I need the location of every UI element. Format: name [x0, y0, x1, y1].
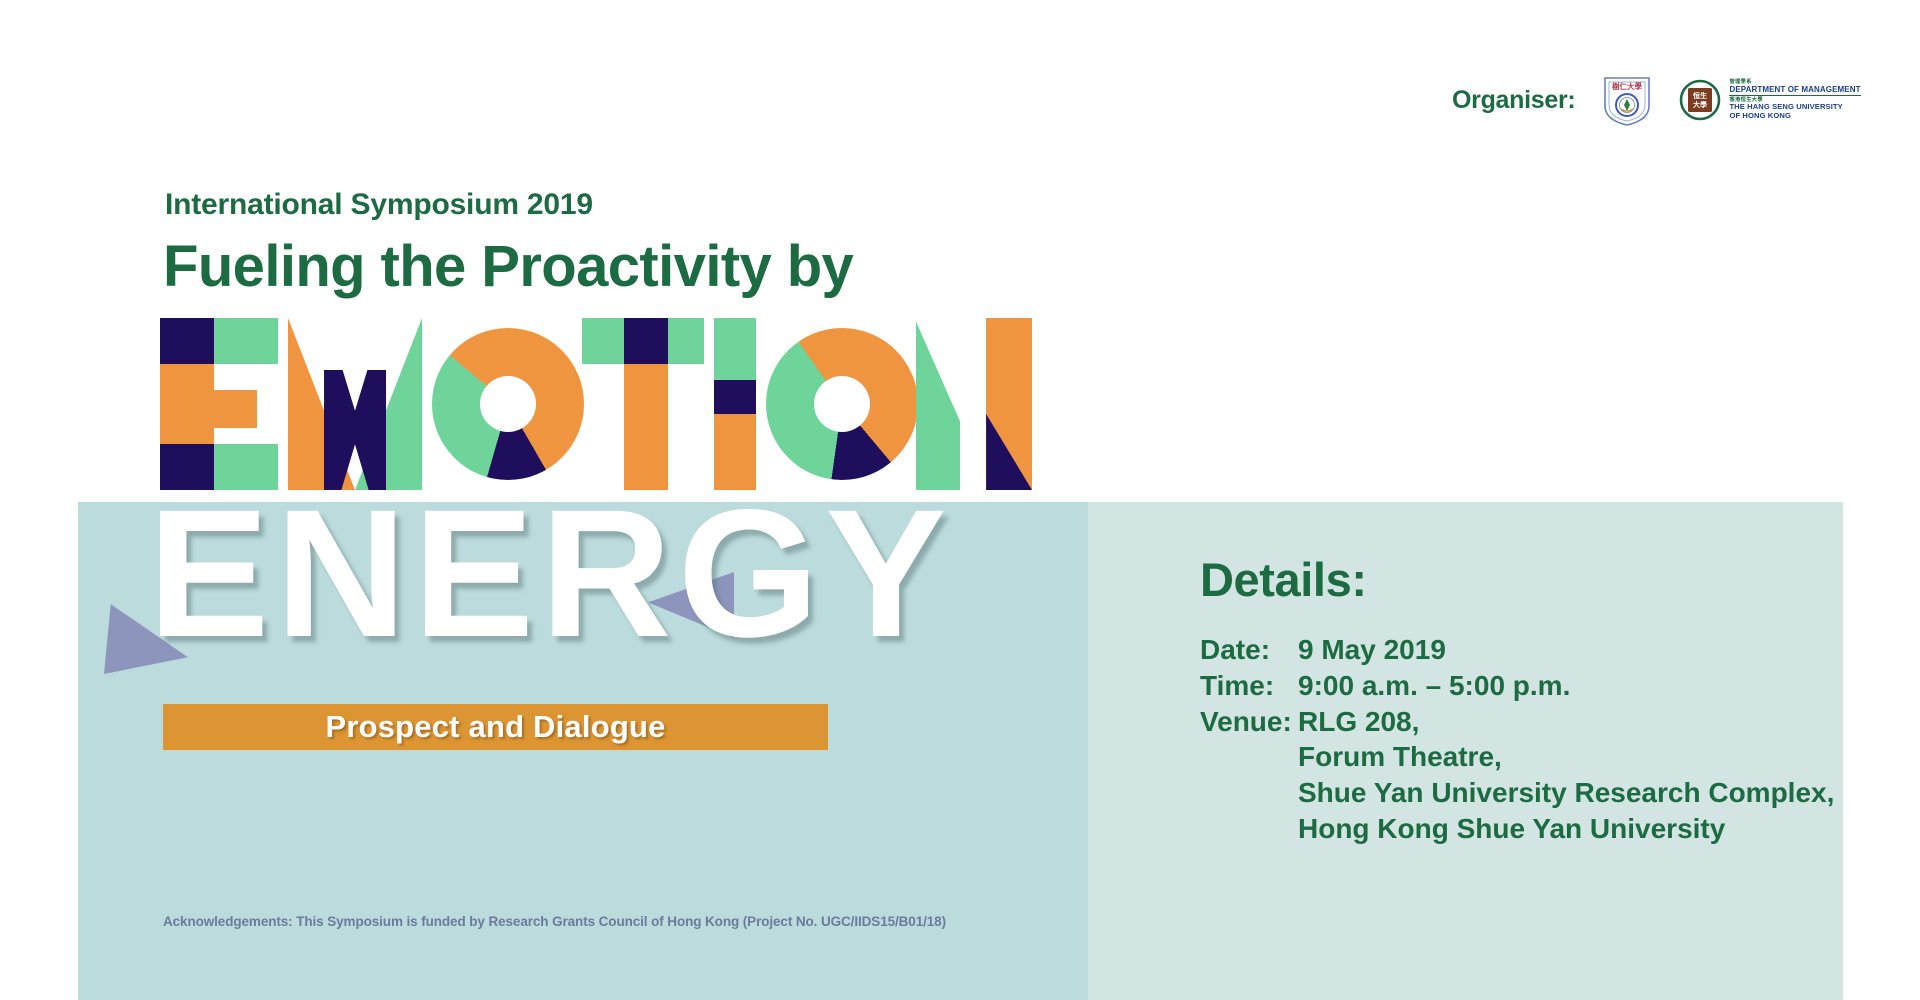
emotion-letter-i [714, 318, 756, 490]
details-row-time: Time: 9:00 a.m. – 5:00 p.m. [1200, 668, 1834, 704]
svg-text:大學: 大學 [1693, 100, 1707, 109]
details-venue-line-2: Forum Theatre, [1200, 739, 1834, 775]
details-value-time: 9:00 a.m. – 5:00 p.m. [1298, 668, 1570, 704]
subbanner-label: Prospect and Dialogue [325, 709, 665, 745]
poster-canvas: Organiser: 樹仁大學 恒生 大學 管理學系 [0, 0, 1920, 1000]
organiser-row: Organiser: 樹仁大學 恒生 大學 管理學系 [1452, 72, 1861, 128]
symposium-kicker: International Symposium 2019 [165, 188, 593, 222]
hsu-seal-icon: 恒生 大學 [1679, 79, 1721, 121]
emotion-letter-o-first [432, 318, 572, 490]
details-value-date: 9 May 2019 [1298, 632, 1446, 668]
details-label-venue: Venue: [1200, 704, 1298, 740]
details-value-venue: RLG 208, [1298, 704, 1419, 740]
details-list: Date: 9 May 2019 Time: 9:00 a.m. – 5:00 … [1200, 632, 1834, 847]
acknowledgements-text: Acknowledgements: This Symposium is fund… [163, 914, 946, 929]
energy-wordmark: ENERGY [148, 482, 953, 664]
details-label-time: Time: [1200, 668, 1298, 704]
emotion-letter-m [288, 318, 422, 490]
details-heading: Details: [1200, 552, 1367, 607]
hsu-uni-english-line2: OF HONG KONG [1729, 112, 1860, 121]
details-venue-line-3: Shue Yan University Research Complex, [1200, 775, 1834, 811]
details-venue-line-4: Hong Kong Shue Yan University [1200, 811, 1834, 847]
prospect-and-dialogue-banner: Prospect and Dialogue [163, 704, 828, 750]
details-row-date: Date: 9 May 2019 [1200, 632, 1834, 668]
emotion-wordmark [160, 318, 1032, 490]
svg-text:樹仁大學: 樹仁大學 [1612, 81, 1642, 91]
hang-seng-university-department-of-management-logo: 恒生 大學 管理學系 DEPARTMENT OF MANAGEMENT 香港恒生… [1679, 79, 1860, 122]
emotion-letter-e [160, 318, 278, 490]
svg-text:恒生: 恒生 [1692, 91, 1707, 100]
emotion-letter-t [582, 318, 704, 490]
details-label-date: Date: [1200, 632, 1298, 668]
emotion-letter-o-second [766, 318, 906, 490]
hong-kong-shue-yan-university-logo: 樹仁大學 [1599, 72, 1655, 128]
emotion-letter-n [916, 318, 1032, 490]
page-title: Fueling the Proactivity by [163, 238, 853, 296]
organiser-label: Organiser: [1452, 86, 1575, 115]
hsu-dept-english: DEPARTMENT OF MANAGEMENT [1729, 85, 1860, 94]
details-row-venue: Venue: RLG 208, [1200, 704, 1834, 740]
